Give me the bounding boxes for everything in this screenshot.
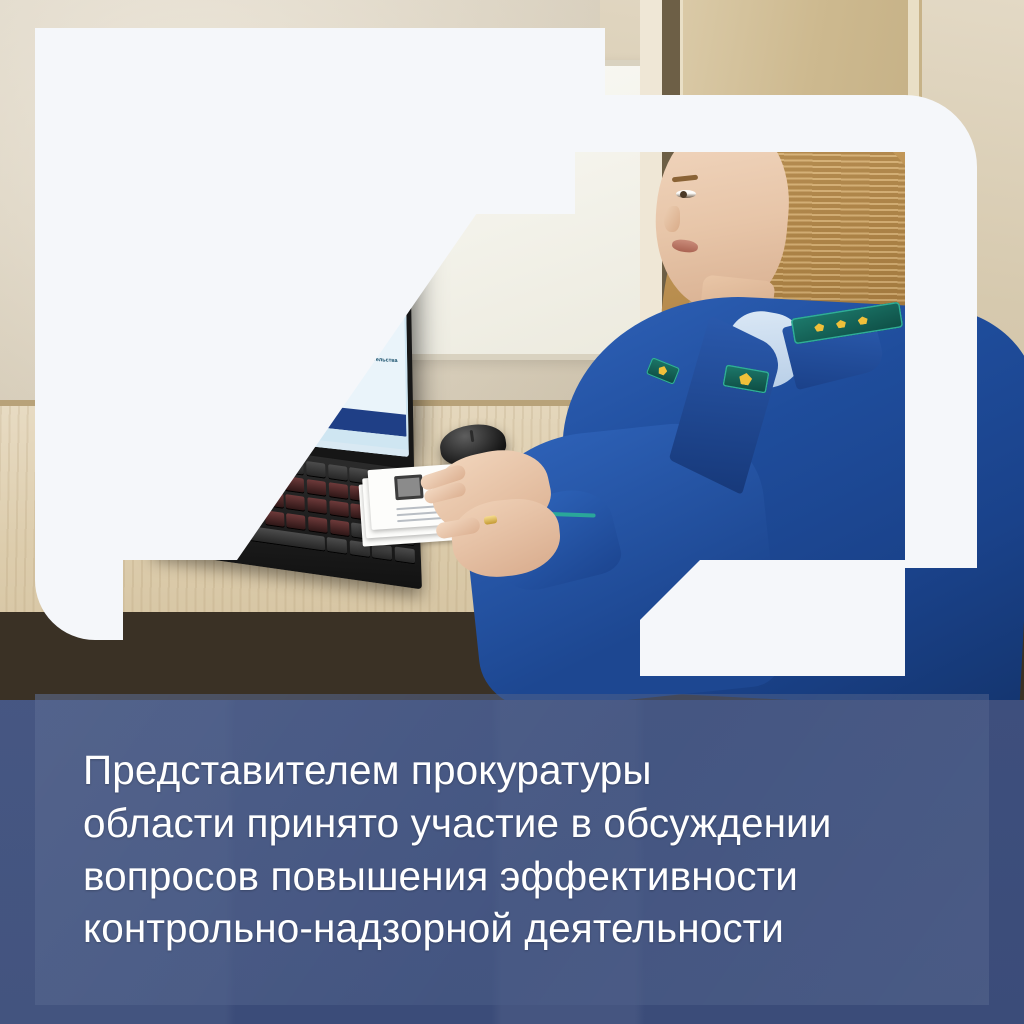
person-nose — [664, 206, 680, 232]
paper-clip-icon — [394, 474, 424, 500]
slide-title-line1: Корпоративный университет Правительства — [277, 352, 398, 364]
qr-code-icon — [324, 264, 339, 281]
slide-title-line2: Воронежской области — [308, 363, 368, 372]
office-photo: Автономная некоммерческая организация Ко… — [0, 0, 1024, 700]
caption-panel: Представителем прокуратуры области приня… — [35, 694, 989, 1005]
photo-region: Автономная некоммерческая организация Ко… — [0, 0, 1024, 700]
qr-code-icon — [346, 266, 361, 283]
person-eye — [676, 190, 696, 198]
webcam-icon — [331, 196, 375, 227]
shared-presentation: Автономная некоммерческая организация Ко… — [267, 238, 406, 437]
caption-text: Представителем прокуратуры области приня… — [35, 744, 832, 955]
social-media-card: Автономная некоммерческая организация Ко… — [0, 0, 1024, 1024]
participants-panel[interactable] — [127, 218, 187, 433]
slide-footer — [270, 400, 406, 437]
monitor-screen[interactable]: Автономная некоммерческая организация Ко… — [115, 201, 409, 457]
chat-panel[interactable] — [183, 224, 271, 442]
hexagon-logo-icon — [309, 282, 364, 348]
browser-content: Автономная некоммерческая организация Ко… — [115, 217, 409, 457]
